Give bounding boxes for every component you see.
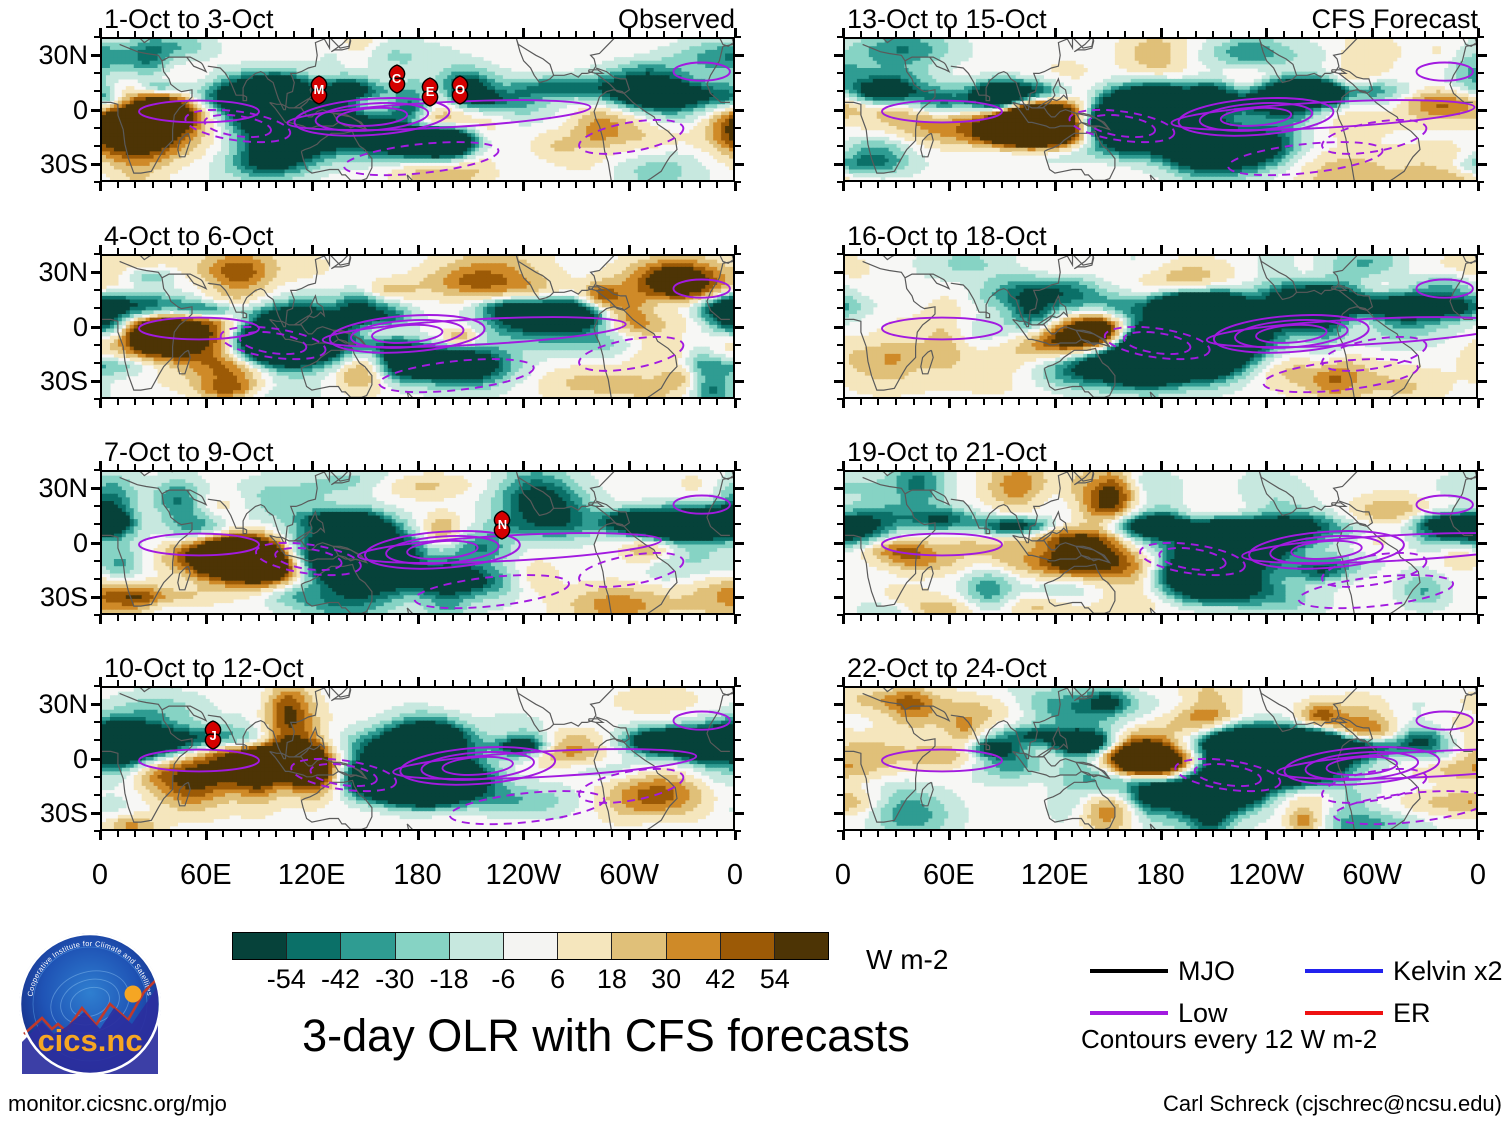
x-tick bbox=[1318, 182, 1320, 188]
y-tick bbox=[1478, 36, 1484, 38]
x-tick bbox=[1195, 615, 1197, 621]
x-tick bbox=[558, 680, 560, 686]
x-tick bbox=[1160, 461, 1163, 470]
x-tick bbox=[187, 248, 189, 254]
x-tick bbox=[346, 399, 348, 405]
y-tick bbox=[735, 794, 741, 796]
x-tick bbox=[842, 182, 845, 191]
x-tick bbox=[1124, 248, 1126, 254]
x-tick bbox=[1406, 31, 1408, 37]
y-tick bbox=[837, 685, 843, 687]
x-axis-label: 120E bbox=[1000, 861, 1110, 890]
x-tick bbox=[364, 680, 366, 686]
x-tick bbox=[1371, 399, 1374, 408]
y-tick bbox=[1478, 145, 1484, 147]
x-tick bbox=[983, 680, 985, 686]
y-axis-label: 0 bbox=[4, 530, 88, 557]
x-tick bbox=[487, 248, 489, 254]
x-tick bbox=[1089, 399, 1091, 405]
x-tick bbox=[628, 677, 631, 686]
x-tick bbox=[346, 248, 348, 254]
y-tick bbox=[1478, 72, 1484, 74]
x-tick bbox=[205, 399, 208, 408]
x-tick bbox=[399, 831, 401, 837]
y-tick bbox=[1478, 326, 1487, 329]
x-tick bbox=[505, 615, 507, 621]
y-tick bbox=[834, 758, 843, 761]
map-panel-fcst-4[interactable] bbox=[843, 686, 1478, 831]
olr-shading-fcst-3 bbox=[845, 472, 1478, 615]
x-tick bbox=[558, 182, 560, 188]
x-tick bbox=[1371, 182, 1374, 191]
y-tick bbox=[735, 289, 741, 291]
y-tick bbox=[837, 36, 843, 38]
x-tick bbox=[1018, 248, 1020, 254]
x-tick bbox=[681, 31, 683, 37]
x-tick bbox=[1442, 464, 1444, 470]
x-tick bbox=[1336, 31, 1338, 37]
x-tick bbox=[117, 680, 119, 686]
cyclone-marker-C[interactable]: C bbox=[386, 64, 408, 94]
x-tick bbox=[681, 182, 683, 188]
x-tick bbox=[311, 831, 314, 840]
x-tick bbox=[434, 248, 436, 254]
x-tick bbox=[1195, 31, 1197, 37]
x-tick bbox=[1036, 464, 1038, 470]
author-credit[interactable]: Carl Schreck (cjschrec@ncsu.edu) bbox=[1163, 1093, 1502, 1115]
y-tick bbox=[837, 90, 843, 92]
x-tick bbox=[860, 399, 862, 405]
colorbar-swatch bbox=[233, 933, 287, 959]
y-tick bbox=[1478, 127, 1484, 129]
x-tick bbox=[275, 182, 277, 188]
x-tick bbox=[381, 31, 383, 37]
x-tick bbox=[860, 464, 862, 470]
x-tick bbox=[117, 31, 119, 37]
y-tick bbox=[837, 289, 843, 291]
x-tick bbox=[1195, 399, 1197, 405]
x-tick bbox=[399, 182, 401, 188]
y-tick bbox=[735, 505, 741, 507]
y-tick bbox=[735, 326, 744, 329]
x-tick bbox=[187, 464, 189, 470]
x-tick bbox=[222, 399, 224, 405]
colorbar-swatch bbox=[612, 933, 666, 959]
x-tick bbox=[1142, 680, 1144, 686]
y-tick bbox=[834, 109, 843, 112]
y-tick bbox=[837, 72, 843, 74]
x-tick bbox=[948, 677, 951, 686]
x-tick bbox=[1036, 31, 1038, 37]
y-tick bbox=[834, 326, 843, 329]
x-tick bbox=[930, 182, 932, 188]
x-tick bbox=[913, 248, 915, 254]
panel-title-fcst-3: 19-Oct to 21-Oct bbox=[847, 439, 1047, 466]
x-tick bbox=[860, 680, 862, 686]
x-tick bbox=[293, 31, 295, 37]
x-tick bbox=[558, 248, 560, 254]
x-tick bbox=[1265, 28, 1268, 37]
x-tick bbox=[134, 182, 136, 188]
x-tick bbox=[540, 464, 542, 470]
y-tick bbox=[94, 523, 100, 525]
x-tick bbox=[1265, 677, 1268, 686]
x-tick bbox=[364, 399, 366, 405]
x-tick bbox=[1107, 615, 1109, 621]
y-tick bbox=[837, 307, 843, 309]
y-tick bbox=[1478, 380, 1487, 383]
x-tick bbox=[877, 248, 879, 254]
y-tick bbox=[735, 362, 741, 364]
x-tick bbox=[1018, 399, 1020, 405]
x-tick bbox=[258, 615, 260, 621]
x-tick bbox=[1142, 464, 1144, 470]
x-tick bbox=[1124, 399, 1126, 405]
x-axis-label: 180 bbox=[363, 861, 473, 890]
x-tick bbox=[522, 831, 525, 840]
x-tick bbox=[487, 680, 489, 686]
x-tick bbox=[1406, 248, 1408, 254]
x-axis-label: 180 bbox=[1106, 861, 1216, 890]
x-tick bbox=[258, 680, 260, 686]
x-tick bbox=[1265, 831, 1268, 840]
x-tick bbox=[205, 831, 208, 840]
y-tick bbox=[735, 776, 741, 778]
x-tick bbox=[487, 31, 489, 37]
x-tick bbox=[99, 831, 102, 840]
x-tick bbox=[877, 182, 879, 188]
x-tick bbox=[364, 615, 366, 621]
x-tick bbox=[1283, 182, 1285, 188]
y-tick bbox=[837, 253, 843, 255]
x-tick bbox=[417, 461, 420, 470]
y-tick bbox=[94, 90, 100, 92]
x-tick bbox=[699, 464, 701, 470]
x-tick bbox=[293, 399, 295, 405]
x-tick bbox=[469, 680, 471, 686]
x-tick bbox=[699, 615, 701, 621]
x-tick bbox=[1336, 615, 1338, 621]
x-tick bbox=[1371, 615, 1374, 624]
x-tick bbox=[1001, 248, 1003, 254]
y-tick bbox=[1478, 54, 1487, 57]
y-axis-label: 30S bbox=[4, 800, 88, 827]
x-tick bbox=[540, 615, 542, 621]
x-tick bbox=[842, 399, 845, 408]
x-tick bbox=[716, 399, 718, 405]
x-tick bbox=[895, 464, 897, 470]
cyclone-marker-N[interactable]: N bbox=[491, 510, 513, 540]
x-tick bbox=[1336, 182, 1338, 188]
x-tick bbox=[381, 182, 383, 188]
map-panel-obs-4[interactable]: J bbox=[100, 686, 735, 831]
x-tick bbox=[399, 615, 401, 621]
y-tick bbox=[735, 685, 741, 687]
x-tick bbox=[275, 399, 277, 405]
x-tick bbox=[134, 615, 136, 621]
y-tick bbox=[94, 721, 100, 723]
x-tick bbox=[1071, 399, 1073, 405]
y-tick bbox=[94, 739, 100, 741]
x-tick bbox=[1177, 831, 1179, 837]
x-tick bbox=[1477, 831, 1480, 840]
y-tick bbox=[1478, 776, 1484, 778]
x-tick bbox=[646, 399, 648, 405]
x-tick bbox=[328, 680, 330, 686]
x-tick bbox=[522, 461, 525, 470]
y-tick bbox=[735, 560, 741, 562]
y-tick bbox=[1478, 812, 1487, 815]
map-panel-obs-1[interactable]: MCEO bbox=[100, 37, 735, 182]
cyclone-marker-M[interactable]: M bbox=[308, 75, 330, 105]
x-tick bbox=[681, 464, 683, 470]
cyclone-marker-J[interactable]: J bbox=[202, 720, 224, 750]
map-panel-fcst-3[interactable] bbox=[843, 470, 1478, 615]
x-tick bbox=[1265, 399, 1268, 408]
x-tick bbox=[222, 248, 224, 254]
x-tick bbox=[434, 182, 436, 188]
x-tick bbox=[1001, 31, 1003, 37]
x-tick bbox=[381, 399, 383, 405]
x-tick bbox=[558, 464, 560, 470]
x-tick bbox=[611, 399, 613, 405]
map-panel-obs-2[interactable] bbox=[100, 254, 735, 399]
x-tick bbox=[540, 399, 542, 405]
x-tick bbox=[170, 31, 172, 37]
x-tick bbox=[1354, 399, 1356, 405]
x-tick bbox=[1089, 464, 1091, 470]
x-tick bbox=[1071, 615, 1073, 621]
y-axis-label: 0 bbox=[4, 314, 88, 341]
x-tick bbox=[663, 831, 665, 837]
y-tick bbox=[91, 487, 100, 490]
x-tick bbox=[1442, 615, 1444, 621]
x-tick bbox=[1124, 464, 1126, 470]
y-tick bbox=[94, 685, 100, 687]
y-tick bbox=[94, 469, 100, 471]
x-tick bbox=[1248, 248, 1250, 254]
x-tick bbox=[311, 615, 314, 624]
x-tick bbox=[434, 399, 436, 405]
x-tick bbox=[1336, 399, 1338, 405]
x-tick bbox=[205, 615, 208, 624]
x-tick bbox=[1406, 399, 1408, 405]
y-tick bbox=[735, 487, 744, 490]
x-tick bbox=[540, 680, 542, 686]
x-tick bbox=[734, 182, 737, 191]
x-tick bbox=[452, 182, 454, 188]
contour-interval-note: Contours every 12 W m-2 bbox=[1081, 1026, 1377, 1052]
x-tick bbox=[1054, 182, 1057, 191]
x-tick bbox=[346, 680, 348, 686]
map-panel-fcst-2[interactable] bbox=[843, 254, 1478, 399]
cyclone-marker-O[interactable]: O bbox=[449, 75, 471, 105]
x-tick bbox=[1089, 615, 1091, 621]
y-tick bbox=[1478, 560, 1484, 562]
x-tick bbox=[170, 399, 172, 405]
y-tick bbox=[91, 380, 100, 383]
x-tick bbox=[1424, 831, 1426, 837]
x-tick bbox=[417, 677, 420, 686]
x-tick bbox=[540, 31, 542, 37]
x-tick bbox=[364, 831, 366, 837]
x-tick bbox=[699, 182, 701, 188]
x-tick bbox=[1248, 182, 1250, 188]
y-tick bbox=[735, 344, 741, 346]
x-tick bbox=[134, 464, 136, 470]
x-tick bbox=[170, 464, 172, 470]
olr-shading-obs-3 bbox=[102, 472, 735, 615]
x-tick bbox=[328, 399, 330, 405]
y-tick bbox=[1478, 253, 1484, 255]
olr-shading-fcst-2 bbox=[845, 256, 1478, 399]
y-tick bbox=[837, 127, 843, 129]
x-tick bbox=[1318, 615, 1320, 621]
y-tick bbox=[1478, 721, 1484, 723]
y-tick bbox=[1478, 163, 1487, 166]
panel-title-obs-3: 7-Oct to 9-Oct bbox=[104, 439, 274, 466]
x-tick bbox=[1036, 248, 1038, 254]
x-tick bbox=[1212, 831, 1214, 837]
x-tick bbox=[1354, 831, 1356, 837]
x-tick bbox=[1160, 245, 1163, 254]
x-tick bbox=[134, 831, 136, 837]
x-tick bbox=[1160, 677, 1163, 686]
olr-shading-obs-1 bbox=[102, 39, 735, 182]
x-tick bbox=[205, 461, 208, 470]
x-axis-label: 0 bbox=[680, 861, 790, 890]
map-panel-fcst-1[interactable] bbox=[843, 37, 1478, 182]
x-tick bbox=[240, 31, 242, 37]
x-tick bbox=[1212, 464, 1214, 470]
x-tick bbox=[611, 680, 613, 686]
y-tick bbox=[834, 54, 843, 57]
x-tick bbox=[1318, 464, 1320, 470]
x-tick bbox=[240, 464, 242, 470]
x-tick bbox=[681, 680, 683, 686]
x-tick bbox=[1160, 615, 1163, 624]
x-tick bbox=[469, 831, 471, 837]
y-tick bbox=[1478, 362, 1484, 364]
x-tick bbox=[134, 399, 136, 405]
x-tick bbox=[240, 615, 242, 621]
x-tick bbox=[575, 464, 577, 470]
x-tick bbox=[381, 615, 383, 621]
x-tick bbox=[1142, 831, 1144, 837]
x-tick bbox=[1354, 248, 1356, 254]
x-tick bbox=[99, 615, 102, 624]
x-tick bbox=[505, 248, 507, 254]
x-tick bbox=[663, 31, 665, 37]
y-tick bbox=[735, 830, 741, 832]
y-tick bbox=[91, 542, 100, 545]
x-tick bbox=[170, 248, 172, 254]
x-tick bbox=[1107, 31, 1109, 37]
x-tick bbox=[399, 680, 401, 686]
x-tick bbox=[1424, 464, 1426, 470]
y-tick bbox=[1478, 830, 1484, 832]
y-tick bbox=[834, 596, 843, 599]
x-tick bbox=[1107, 831, 1109, 837]
x-tick bbox=[593, 831, 595, 837]
y-tick bbox=[834, 271, 843, 274]
y-tick bbox=[1478, 289, 1484, 291]
x-tick bbox=[205, 182, 208, 191]
x-tick bbox=[452, 399, 454, 405]
x-tick bbox=[716, 831, 718, 837]
x-tick bbox=[913, 182, 915, 188]
x-tick bbox=[646, 680, 648, 686]
x-tick bbox=[1301, 615, 1303, 621]
x-tick bbox=[1001, 831, 1003, 837]
y-tick bbox=[94, 145, 100, 147]
x-tick bbox=[346, 31, 348, 37]
x-tick bbox=[1177, 31, 1179, 37]
cyclone-marker-E[interactable]: E bbox=[419, 77, 441, 107]
x-tick bbox=[1301, 248, 1303, 254]
x-tick bbox=[1054, 245, 1057, 254]
x-tick bbox=[699, 248, 701, 254]
x-tick bbox=[1283, 464, 1285, 470]
x-tick bbox=[1459, 464, 1461, 470]
x-tick bbox=[663, 680, 665, 686]
x-tick bbox=[1301, 680, 1303, 686]
y-tick bbox=[837, 739, 843, 741]
x-tick bbox=[699, 831, 701, 837]
x-tick bbox=[1301, 831, 1303, 837]
x-tick bbox=[1406, 615, 1408, 621]
x-tick bbox=[293, 248, 295, 254]
map-panel-obs-3[interactable]: N bbox=[100, 470, 735, 615]
x-tick bbox=[1177, 680, 1179, 686]
x-tick bbox=[1318, 399, 1320, 405]
x-tick bbox=[1107, 680, 1109, 686]
x-tick bbox=[1248, 680, 1250, 686]
website-url[interactable]: monitor.cicsnc.org/mjo bbox=[8, 1093, 227, 1115]
x-tick bbox=[716, 464, 718, 470]
x-tick bbox=[1107, 182, 1109, 188]
y-tick bbox=[834, 163, 843, 166]
x-tick bbox=[699, 399, 701, 405]
y-tick bbox=[1478, 523, 1484, 525]
x-tick bbox=[1424, 182, 1426, 188]
x-tick bbox=[948, 831, 951, 840]
x-tick bbox=[1195, 182, 1197, 188]
x-tick bbox=[1459, 399, 1461, 405]
x-tick bbox=[965, 464, 967, 470]
y-tick bbox=[1478, 794, 1484, 796]
x-tick bbox=[328, 31, 330, 37]
x-tick bbox=[1212, 248, 1214, 254]
x-tick bbox=[1195, 248, 1197, 254]
x-tick bbox=[611, 615, 613, 621]
x-tick bbox=[1054, 461, 1057, 470]
x-tick bbox=[575, 31, 577, 37]
x-tick bbox=[258, 399, 260, 405]
y-tick bbox=[735, 90, 741, 92]
x-tick bbox=[1124, 182, 1126, 188]
x-tick bbox=[716, 31, 718, 37]
x-tick bbox=[1018, 31, 1020, 37]
x-tick bbox=[152, 831, 154, 837]
x-tick bbox=[983, 31, 985, 37]
x-tick bbox=[913, 399, 915, 405]
x-tick bbox=[469, 615, 471, 621]
x-tick bbox=[240, 831, 242, 837]
x-tick bbox=[222, 680, 224, 686]
x-tick bbox=[205, 677, 208, 686]
x-tick bbox=[1230, 31, 1232, 37]
